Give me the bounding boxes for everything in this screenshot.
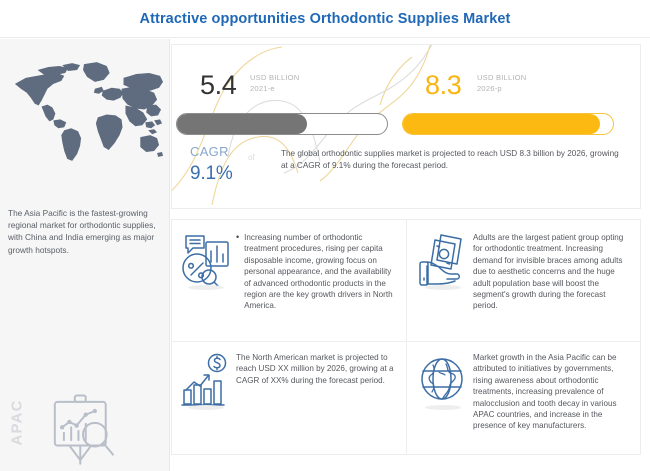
value-2021: 5.4: [200, 70, 236, 101]
panel-description: The global orthodontic supplies market i…: [281, 148, 626, 171]
progress-bar-2026: [402, 113, 614, 135]
progress-bar-2026-fill: [403, 114, 600, 134]
icon-shadow: [425, 405, 461, 410]
insight-card-body: The North American market is projected t…: [236, 352, 398, 386]
infographic-root: Attractive opportunities Orthodontic Sup…: [0, 0, 650, 471]
left-sidebar: The Asia Pacific is the fastest-growing …: [0, 39, 170, 471]
presentation-chart-magnifier-icon: [42, 391, 124, 471]
header-bar: Attractive opportunities Orthodontic Sup…: [0, 0, 650, 38]
insight-card-body: Adults are the largest patient group opt…: [473, 232, 630, 312]
market-value-panel: 5.4 USD BILLION 2021-e 8.3 USD BILLION 2…: [171, 44, 641, 209]
insight-card-text: Increasing number of orthodontic treatme…: [244, 232, 398, 312]
insight-card-text: Adults are the largest patient group opt…: [473, 233, 623, 310]
progress-bar-2021: [176, 113, 388, 135]
progress-bar-2021-fill: [177, 114, 307, 134]
icon-shadow: [425, 285, 461, 290]
cagr-value: 9.1%: [190, 163, 233, 185]
icon-shadow: [188, 405, 224, 410]
insight-card-text: The North American market is projected t…: [236, 353, 393, 385]
icon-shadow: [188, 285, 224, 290]
unit-label-2021: USD BILLION 2021-e: [250, 72, 299, 94]
insight-card-north-america-drivers: • Increasing number of orthodontic treat…: [172, 220, 406, 341]
value-2026: 8.3: [425, 70, 461, 101]
world-map-icon: [6, 51, 164, 169]
cagr-label: CAGR: [190, 144, 229, 159]
unit-currency-2021: USD BILLION: [250, 72, 299, 83]
of-word: of: [248, 153, 255, 162]
insight-card-text: Market growth in the Asia Pacific can be…: [473, 353, 617, 430]
growth-bar-chart-dollar-icon: [180, 352, 232, 408]
unit-label-2026: USD BILLION 2026-p: [477, 72, 526, 94]
unit-year-2026: 2026-p: [477, 83, 526, 94]
insight-card-body: Market growth in the Asia Pacific can be…: [473, 352, 630, 432]
insight-card-grid: • Increasing number of orthodontic treat…: [171, 219, 641, 455]
sidebar-description: The Asia Pacific is the fastest-growing …: [8, 207, 160, 256]
bar-chart-percent-magnifier-icon: [180, 232, 232, 288]
page-title: Attractive opportunities Orthodontic Sup…: [140, 11, 511, 27]
insight-card-body: • Increasing number of orthodontic treat…: [236, 232, 398, 312]
hand-holding-money-icon: [417, 232, 469, 288]
bullet-marker: •: [236, 232, 239, 243]
insight-card-apac-growth: Market growth in the Asia Pacific can be…: [406, 341, 640, 454]
apac-watermark: APAC: [9, 386, 26, 446]
globe-icon: [417, 352, 469, 408]
insight-card-north-america-forecast: The North American market is projected t…: [172, 341, 406, 454]
insight-card-adult-segment: Adults are the largest patient group opt…: [406, 220, 640, 341]
unit-year-2021: 2021-e: [250, 83, 299, 94]
unit-currency-2026: USD BILLION: [477, 72, 526, 83]
